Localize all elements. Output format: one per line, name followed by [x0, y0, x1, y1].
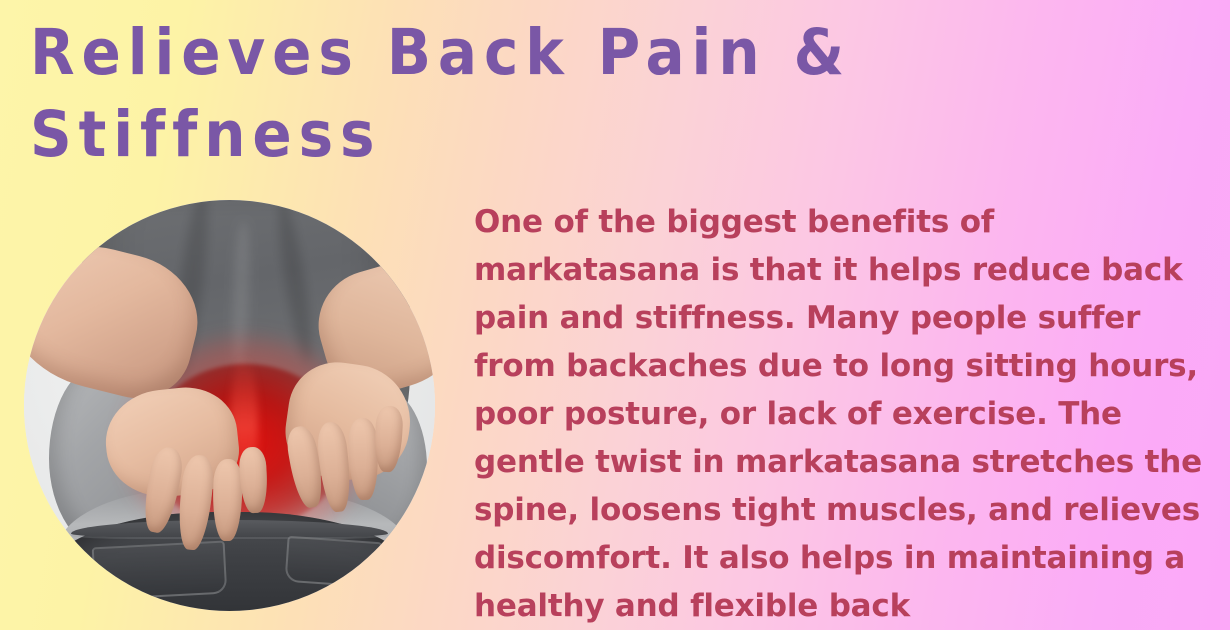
body-paragraph: One of the biggest benefits of markatasa…	[474, 198, 1204, 630]
title-line-1: Relieves Back Pain &	[30, 12, 1088, 94]
title-line-2: Stiffness	[30, 94, 1088, 176]
jeans-pocket-left	[92, 541, 227, 601]
slide-canvas: Relieves Back Pain & Stiffness	[0, 0, 1230, 630]
page-title: Relieves Back Pain & Stiffness	[30, 12, 1180, 176]
back-pain-photo	[24, 200, 435, 611]
jeans-pocket-right	[285, 536, 383, 588]
photo-illustration	[24, 200, 435, 611]
